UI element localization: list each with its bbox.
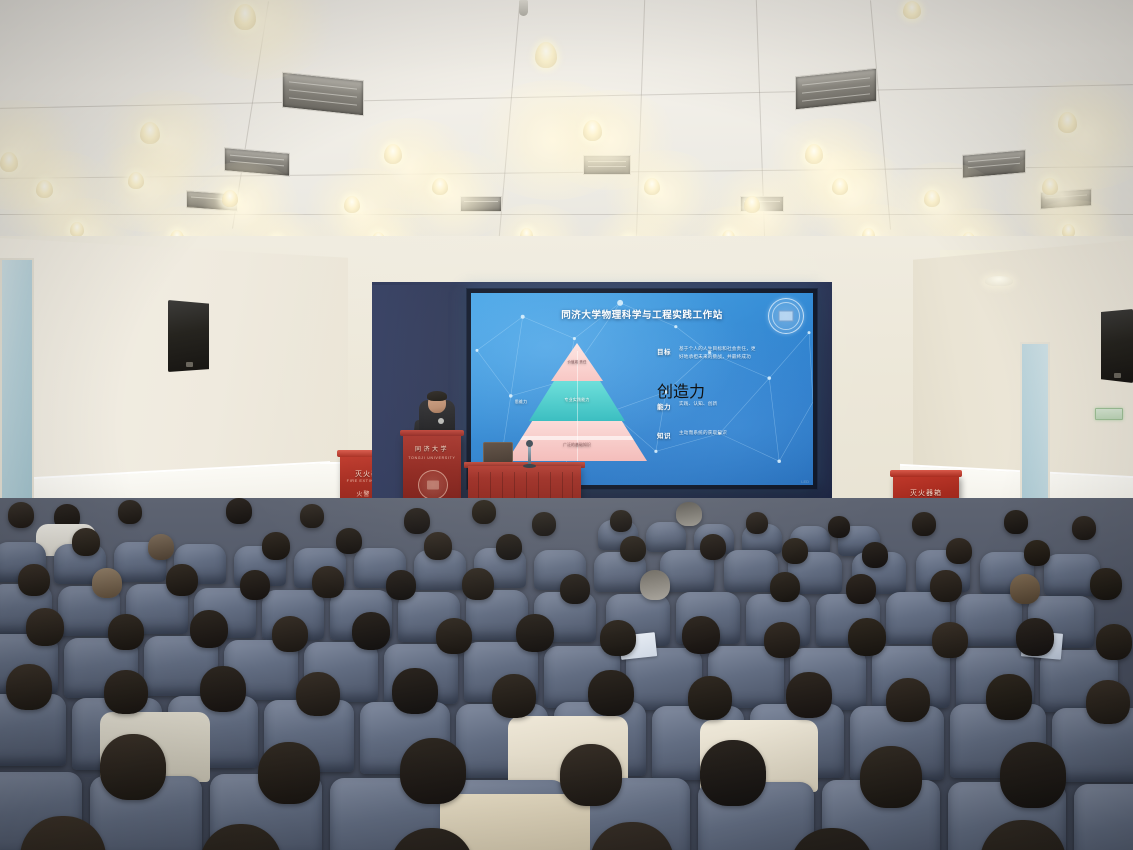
lecture-hall-photo: 灭火器箱 FIRE EXTINGUISHER 火警 119 灭火器箱 FIRE … xyxy=(0,0,1133,850)
slide-row-line: 实践、认知、创新 xyxy=(679,400,805,408)
slide-row-goals: 目标 基于个人的人生目标和社会责任，更 好地承担未来的挑战，并最终成功 xyxy=(657,345,805,361)
slide-row-ability-pre: 创造力 xyxy=(657,378,805,402)
university-crest-icon xyxy=(418,470,448,500)
audience-head xyxy=(386,570,416,600)
audience-head xyxy=(1090,568,1122,600)
audience-head xyxy=(496,534,522,560)
audience-head xyxy=(492,674,536,718)
audience-head xyxy=(946,538,972,564)
ceiling-light xyxy=(140,122,160,144)
audience-head xyxy=(72,528,100,556)
audience-head xyxy=(640,570,670,600)
audience-head xyxy=(688,676,732,720)
ceiling-vent xyxy=(224,147,290,177)
audience-head xyxy=(986,674,1032,720)
audience-head xyxy=(1096,624,1132,660)
audience-head xyxy=(100,734,166,800)
audience-head xyxy=(352,612,390,650)
wall-speaker-right xyxy=(1101,309,1133,383)
audience-head xyxy=(272,616,308,652)
audience-head xyxy=(912,512,936,536)
sprinkler-head xyxy=(519,0,528,16)
audience-head xyxy=(700,534,726,560)
audience-head xyxy=(782,538,808,564)
exit-sign-icon xyxy=(1095,408,1123,420)
ceiling-vent xyxy=(962,149,1026,179)
audience-head xyxy=(296,672,340,716)
audience-head xyxy=(700,740,766,806)
ceiling-vent xyxy=(282,72,364,117)
audience-head xyxy=(148,534,174,560)
slide-row-line: 主动而系统的获取知识 xyxy=(679,429,805,437)
audience-head xyxy=(240,570,270,600)
door-left[interactable] xyxy=(0,258,34,530)
audience-head xyxy=(764,622,800,658)
audience-head xyxy=(190,610,228,648)
ceiling-light xyxy=(535,42,557,68)
audience-head xyxy=(600,620,636,656)
audience-area xyxy=(0,498,1133,850)
ceiling-vent xyxy=(795,68,877,111)
audience-head xyxy=(516,614,554,652)
audience-head xyxy=(930,570,962,602)
led-presentation-screen: 同济大学物理科学与工程实践工作站 价值观 责任 xyxy=(466,288,818,490)
ceiling-light xyxy=(805,144,823,164)
slide-title: 同济大学物理科学与工程实践工作站 xyxy=(471,307,813,321)
audience-head xyxy=(676,502,702,526)
ceiling-light xyxy=(234,4,256,30)
audience-head xyxy=(262,532,290,560)
audience-head xyxy=(588,670,634,716)
slide-row-label: 能力 xyxy=(657,400,679,411)
ceiling-light xyxy=(36,180,53,198)
ceiling-light xyxy=(384,144,402,164)
ceiling-light xyxy=(1042,178,1058,195)
ceiling-light xyxy=(128,172,144,189)
pyramid-middle-right-label: 专业实践能力 xyxy=(535,397,619,403)
ceiling-vent xyxy=(460,196,502,212)
audience-head xyxy=(226,498,252,524)
audience-head xyxy=(336,528,362,554)
audience-head xyxy=(104,670,148,714)
audience-head xyxy=(92,568,122,598)
ceiling-light xyxy=(1058,112,1077,133)
lectern: 同济大学 TONGJI UNIVERSITY xyxy=(403,434,461,506)
audience-head xyxy=(118,500,142,524)
audience-head xyxy=(1016,618,1054,656)
audience-head xyxy=(166,564,198,596)
ceiling-light xyxy=(644,178,660,195)
ceiling-light xyxy=(0,152,18,172)
seat xyxy=(1074,784,1133,850)
audience-head xyxy=(828,516,850,538)
audience-head xyxy=(932,622,968,658)
audience-head xyxy=(1004,510,1028,534)
audience-head xyxy=(532,512,556,536)
audience-head xyxy=(786,672,832,718)
slide-row-line: 基于个人的人生目标和社会责任，更 xyxy=(679,345,805,353)
audience-head xyxy=(400,738,466,804)
audience-head xyxy=(312,566,344,598)
audience-head xyxy=(846,574,876,604)
audience-head xyxy=(424,532,452,560)
audience-head xyxy=(560,744,622,806)
audience-head xyxy=(26,608,64,646)
slide-text-rows: 目标 基于个人的人生目标和社会责任，更 好地承担未来的挑战，并最终成功 创造力 … xyxy=(657,345,805,457)
slide-row-knowledge: 知识 主动而系统的获取知识 xyxy=(657,429,805,440)
ceiling-light xyxy=(903,1,921,19)
slide-row-label: 知识 xyxy=(657,429,679,440)
audience-head xyxy=(1086,680,1130,724)
ceiling xyxy=(0,0,1133,262)
audience-head xyxy=(392,668,438,714)
audience-head xyxy=(848,618,886,656)
audience-head xyxy=(1072,516,1096,540)
audience-head xyxy=(258,742,320,804)
table-microphone xyxy=(528,444,531,466)
lectern-name-cn: 同济大学 xyxy=(403,444,461,453)
audience-head xyxy=(472,500,496,524)
audience-head xyxy=(18,564,50,596)
ceiling-light xyxy=(344,196,360,213)
pyramid-top-label: 价值观 责任 xyxy=(507,359,647,364)
slide-content: 同济大学物理科学与工程实践工作站 价值观 责任 xyxy=(471,293,813,485)
seat xyxy=(646,522,686,552)
audience-head xyxy=(436,618,472,654)
slide-row-line: 好地承担未来的挑战，并最终成功 xyxy=(679,353,805,361)
audience-head xyxy=(1000,742,1066,808)
ceiling-light xyxy=(744,196,760,213)
audience-head xyxy=(404,508,430,534)
ceiling-light xyxy=(70,222,84,237)
slide-row-label: 目标 xyxy=(657,345,679,356)
audience-head xyxy=(746,512,768,534)
ceiling-light xyxy=(832,178,848,195)
university-seal-icon xyxy=(768,298,804,334)
audience-head xyxy=(8,502,34,528)
lectern-name-en: TONGJI UNIVERSITY xyxy=(403,456,461,460)
ceiling-light xyxy=(222,190,238,207)
audience-head xyxy=(620,536,646,562)
ceiling-light xyxy=(432,178,448,195)
audience-head xyxy=(108,614,144,650)
presenter-hair xyxy=(427,391,447,401)
audience-head xyxy=(770,572,800,602)
audience-head xyxy=(610,510,632,532)
ceiling-vent xyxy=(583,155,631,175)
presenter-badge-icon xyxy=(438,418,444,424)
screen-badge: LED xyxy=(801,479,809,484)
audience-head xyxy=(560,574,590,604)
audience-head xyxy=(6,664,52,710)
audience-head xyxy=(1010,574,1040,604)
audience-head xyxy=(200,666,246,712)
audience-head xyxy=(886,678,930,722)
audience-head xyxy=(860,746,922,808)
audience-head xyxy=(300,504,324,528)
audience-head xyxy=(1024,540,1050,566)
audience-head xyxy=(682,616,720,654)
ceiling-light xyxy=(583,120,602,141)
slide-row-ability: 能力 实践、认知、创新 xyxy=(657,400,805,411)
audience-head xyxy=(862,542,888,568)
audience-head xyxy=(462,568,494,600)
ceiling-light xyxy=(924,190,940,207)
wall-ceiling-lamp xyxy=(985,276,1013,286)
wall-speaker-left xyxy=(168,300,209,372)
fire-cabinet-label-cn: 灭火器箱 xyxy=(893,488,959,498)
